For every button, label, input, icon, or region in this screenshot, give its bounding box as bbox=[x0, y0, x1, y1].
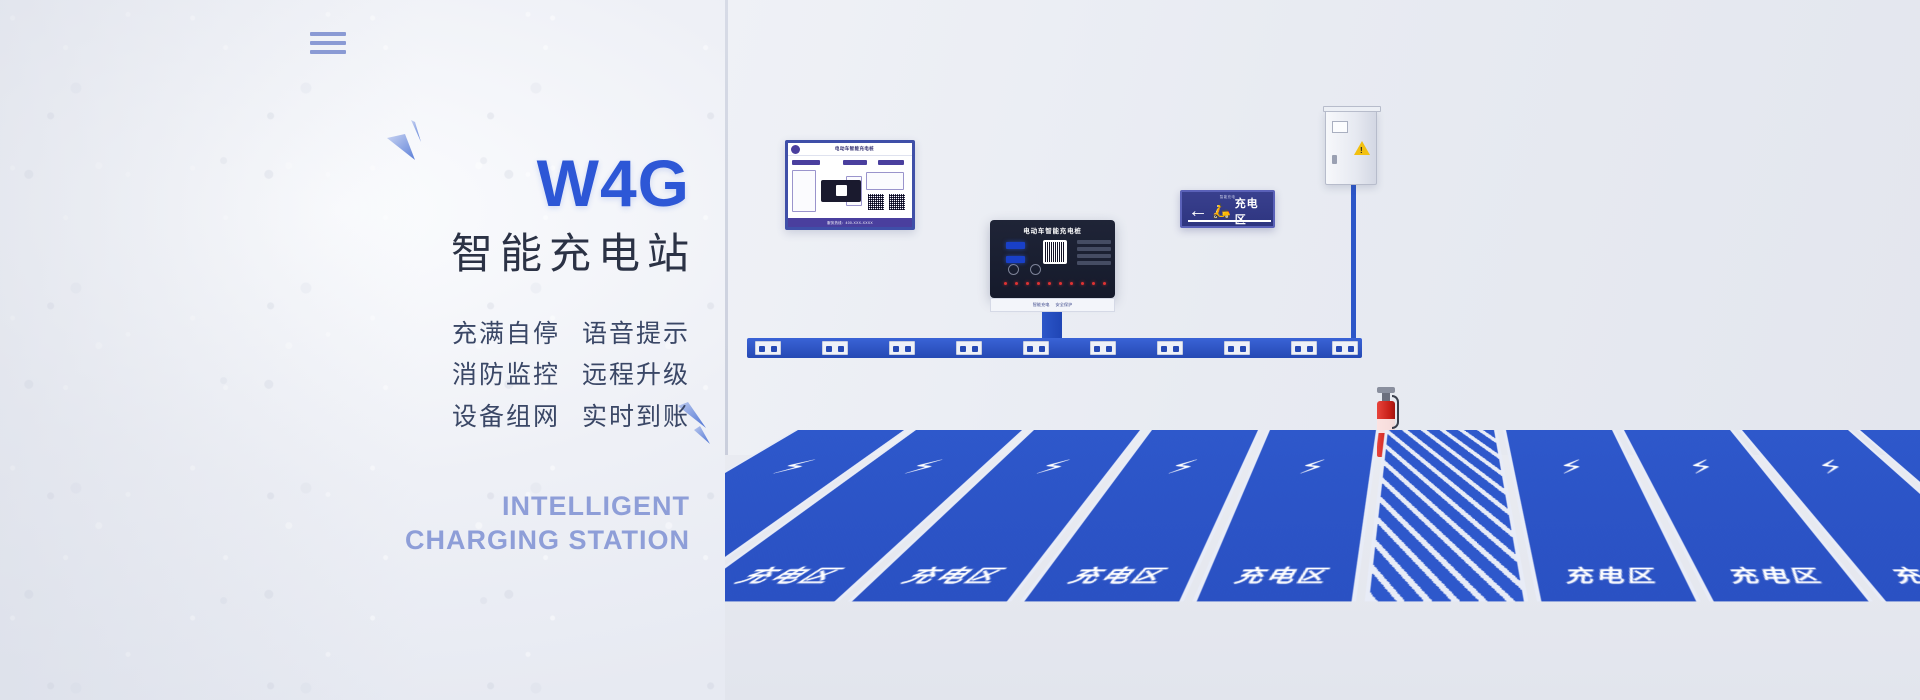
poster-notice-box bbox=[866, 172, 904, 190]
english-tagline: INTELLIGENT CHARGING STATION bbox=[300, 490, 700, 558]
wechat-qr-icon bbox=[868, 194, 884, 210]
wall-outlet[interactable] bbox=[755, 341, 781, 355]
menu-bar bbox=[310, 41, 346, 45]
alipay-qr-icon bbox=[889, 194, 905, 210]
charging-plug-icon: ⚡ bbox=[1555, 456, 1589, 479]
pile-power-icon bbox=[1030, 264, 1041, 275]
wall-outlet[interactable] bbox=[822, 341, 848, 355]
poster-title: 电动车智能充电桩 bbox=[800, 146, 909, 152]
wall-edge bbox=[725, 0, 728, 470]
pile-display-2 bbox=[1006, 256, 1025, 263]
cabinet-top bbox=[1323, 106, 1381, 112]
poster-device-image bbox=[821, 180, 861, 202]
poster-footer-text: 服务热线：400-XXX-XXXX bbox=[827, 220, 873, 225]
page-title: W4G bbox=[300, 150, 700, 216]
sign-small-text: 智能充电 bbox=[1182, 195, 1273, 200]
pile-port-led bbox=[1015, 282, 1018, 285]
wall-outlet[interactable] bbox=[889, 341, 915, 355]
pile-footer-label: 智能充电 bbox=[1033, 302, 1050, 308]
english-line-2: CHARGING STATION bbox=[300, 524, 690, 558]
feature-item: 消防监控 bbox=[452, 360, 560, 391]
pile-footer-label: 安全保护 bbox=[1056, 302, 1073, 308]
charging-plug-icon: ⚡ bbox=[1296, 456, 1329, 479]
english-line-1: INTELLIGENT bbox=[300, 490, 690, 524]
wall-outlet[interactable] bbox=[1157, 341, 1183, 355]
poster-body bbox=[788, 156, 912, 218]
pile-qr-code[interactable] bbox=[1043, 240, 1067, 264]
poster-header: 电动车智能充电桩 bbox=[788, 143, 912, 156]
pile-speaker-icon bbox=[1008, 264, 1019, 275]
feature-list: 充满自停 语音提示 消防监控 远程升级 设备组网 实时到账 bbox=[300, 319, 700, 433]
pile-info-line bbox=[1077, 247, 1111, 251]
wall-outlet[interactable] bbox=[1291, 341, 1317, 355]
charging-plug-icon: ⚡ bbox=[1029, 456, 1076, 479]
bay-label: 充电区 bbox=[1560, 562, 1661, 588]
pile-port-led bbox=[1081, 282, 1084, 285]
hero-banner: W4G 智能充电站 充满自停 语音提示 消防监控 远程升级 设备组网 实时到账 … bbox=[0, 0, 1920, 700]
cabinet-meter-panel bbox=[1332, 121, 1348, 133]
pile-info-lines bbox=[1077, 240, 1111, 268]
hamburger-menu-icon[interactable] bbox=[310, 32, 346, 54]
wall-outlet[interactable] bbox=[956, 341, 982, 355]
page-subtitle: 智能充电站 bbox=[300, 222, 700, 285]
pile-display-1 bbox=[1006, 242, 1025, 249]
pile-port-led bbox=[1026, 282, 1029, 285]
charging-station-illustration: 电动车智能充电桩 服务热线：400-XXX-XXXX 电动车智能充电桩 bbox=[725, 0, 1920, 700]
menu-bar bbox=[310, 50, 346, 54]
bay-label: 充电区 bbox=[1880, 562, 1920, 588]
wall-background bbox=[725, 0, 1920, 470]
feature-item: 充满自停 bbox=[452, 319, 560, 350]
bay-label: 充电区 bbox=[1720, 562, 1829, 588]
pile-port-led bbox=[1070, 282, 1073, 285]
parking-bay-hatched bbox=[1365, 430, 1529, 601]
poster-device-screen bbox=[836, 185, 847, 196]
poster-flow-box bbox=[792, 170, 816, 212]
charging-pile-title: 电动车智能充电桩 bbox=[990, 225, 1115, 235]
pile-port-led bbox=[1004, 282, 1007, 285]
feature-item: 语音提示 bbox=[582, 319, 690, 350]
wall-outlet[interactable] bbox=[1224, 341, 1250, 355]
pile-port-led bbox=[1059, 282, 1062, 285]
bay-label: 充电区 bbox=[895, 562, 1011, 588]
charging-plug-icon: ⚡ bbox=[1682, 456, 1723, 479]
charging-plug-icon: ⚡ bbox=[1162, 456, 1202, 479]
company-logo-icon bbox=[791, 145, 800, 154]
wire-vertical bbox=[1351, 182, 1356, 348]
pile-port-led bbox=[1037, 282, 1040, 285]
poster-section-label bbox=[843, 160, 867, 165]
hero-copy: W4G 智能充电站 充满自停 语音提示 消防监控 远程升级 设备组网 实时到账 bbox=[300, 150, 700, 433]
scooter-icon: 🛵 bbox=[1212, 202, 1231, 220]
pile-port-led bbox=[1103, 282, 1106, 285]
warning-exclamation: ! bbox=[1360, 146, 1363, 155]
charging-pile-panel[interactable]: 电动车智能充电桩 bbox=[990, 220, 1115, 298]
arrow-left-icon: ← bbox=[1188, 201, 1208, 221]
wall-outlet[interactable] bbox=[1090, 341, 1116, 355]
qr-pattern bbox=[1045, 242, 1065, 262]
pile-port-led bbox=[1048, 282, 1051, 285]
poster-footer: 服务热线：400-XXX-XXXX bbox=[788, 218, 912, 227]
bay-label: 充电区 bbox=[1063, 562, 1170, 588]
parking-bay-row: ⚡ 充电区 ⚡ 充电区 ⚡ 充电区 ⚡ 充电区 ⚡ 充电区 ⚡ 充电区 bbox=[725, 430, 1920, 645]
pile-info-line bbox=[1077, 240, 1111, 244]
bay-label: 充电区 bbox=[1231, 562, 1330, 588]
electrical-cabinet[interactable]: ! bbox=[1325, 110, 1377, 185]
menu-bar bbox=[310, 32, 346, 36]
poster-section-label bbox=[792, 160, 820, 165]
pile-info-line bbox=[1077, 254, 1111, 258]
outlet-rail bbox=[747, 338, 1362, 358]
wall-outlet[interactable] bbox=[1023, 341, 1049, 355]
charging-plug-icon: ⚡ bbox=[762, 456, 824, 479]
info-poster[interactable]: 电动车智能充电桩 服务热线：400-XXX-XXXX bbox=[785, 140, 915, 230]
warning-triangle-icon: ! bbox=[1354, 141, 1370, 155]
extinguisher-hose bbox=[1392, 395, 1399, 429]
sign-underline bbox=[1188, 220, 1271, 222]
bay-label: 充电区 bbox=[727, 562, 851, 588]
pile-port-led bbox=[1092, 282, 1095, 285]
charging-plug-icon: ⚡ bbox=[895, 456, 949, 479]
poster-section-label bbox=[878, 160, 904, 165]
feature-item: 设备组网 bbox=[452, 402, 560, 433]
feature-item: 远程升级 bbox=[582, 360, 690, 391]
feature-item: 实时到账 bbox=[582, 402, 690, 433]
wall-outlet[interactable] bbox=[1332, 341, 1358, 355]
cabinet-lock-icon bbox=[1332, 155, 1337, 164]
pile-info-line bbox=[1077, 261, 1111, 265]
direction-sign[interactable]: 智能充电 ← 🛵 充电区 bbox=[1180, 190, 1275, 228]
charging-pile-base: 智能充电 安全保护 bbox=[990, 298, 1115, 312]
charging-plug-icon: ⚡ bbox=[1808, 456, 1857, 479]
